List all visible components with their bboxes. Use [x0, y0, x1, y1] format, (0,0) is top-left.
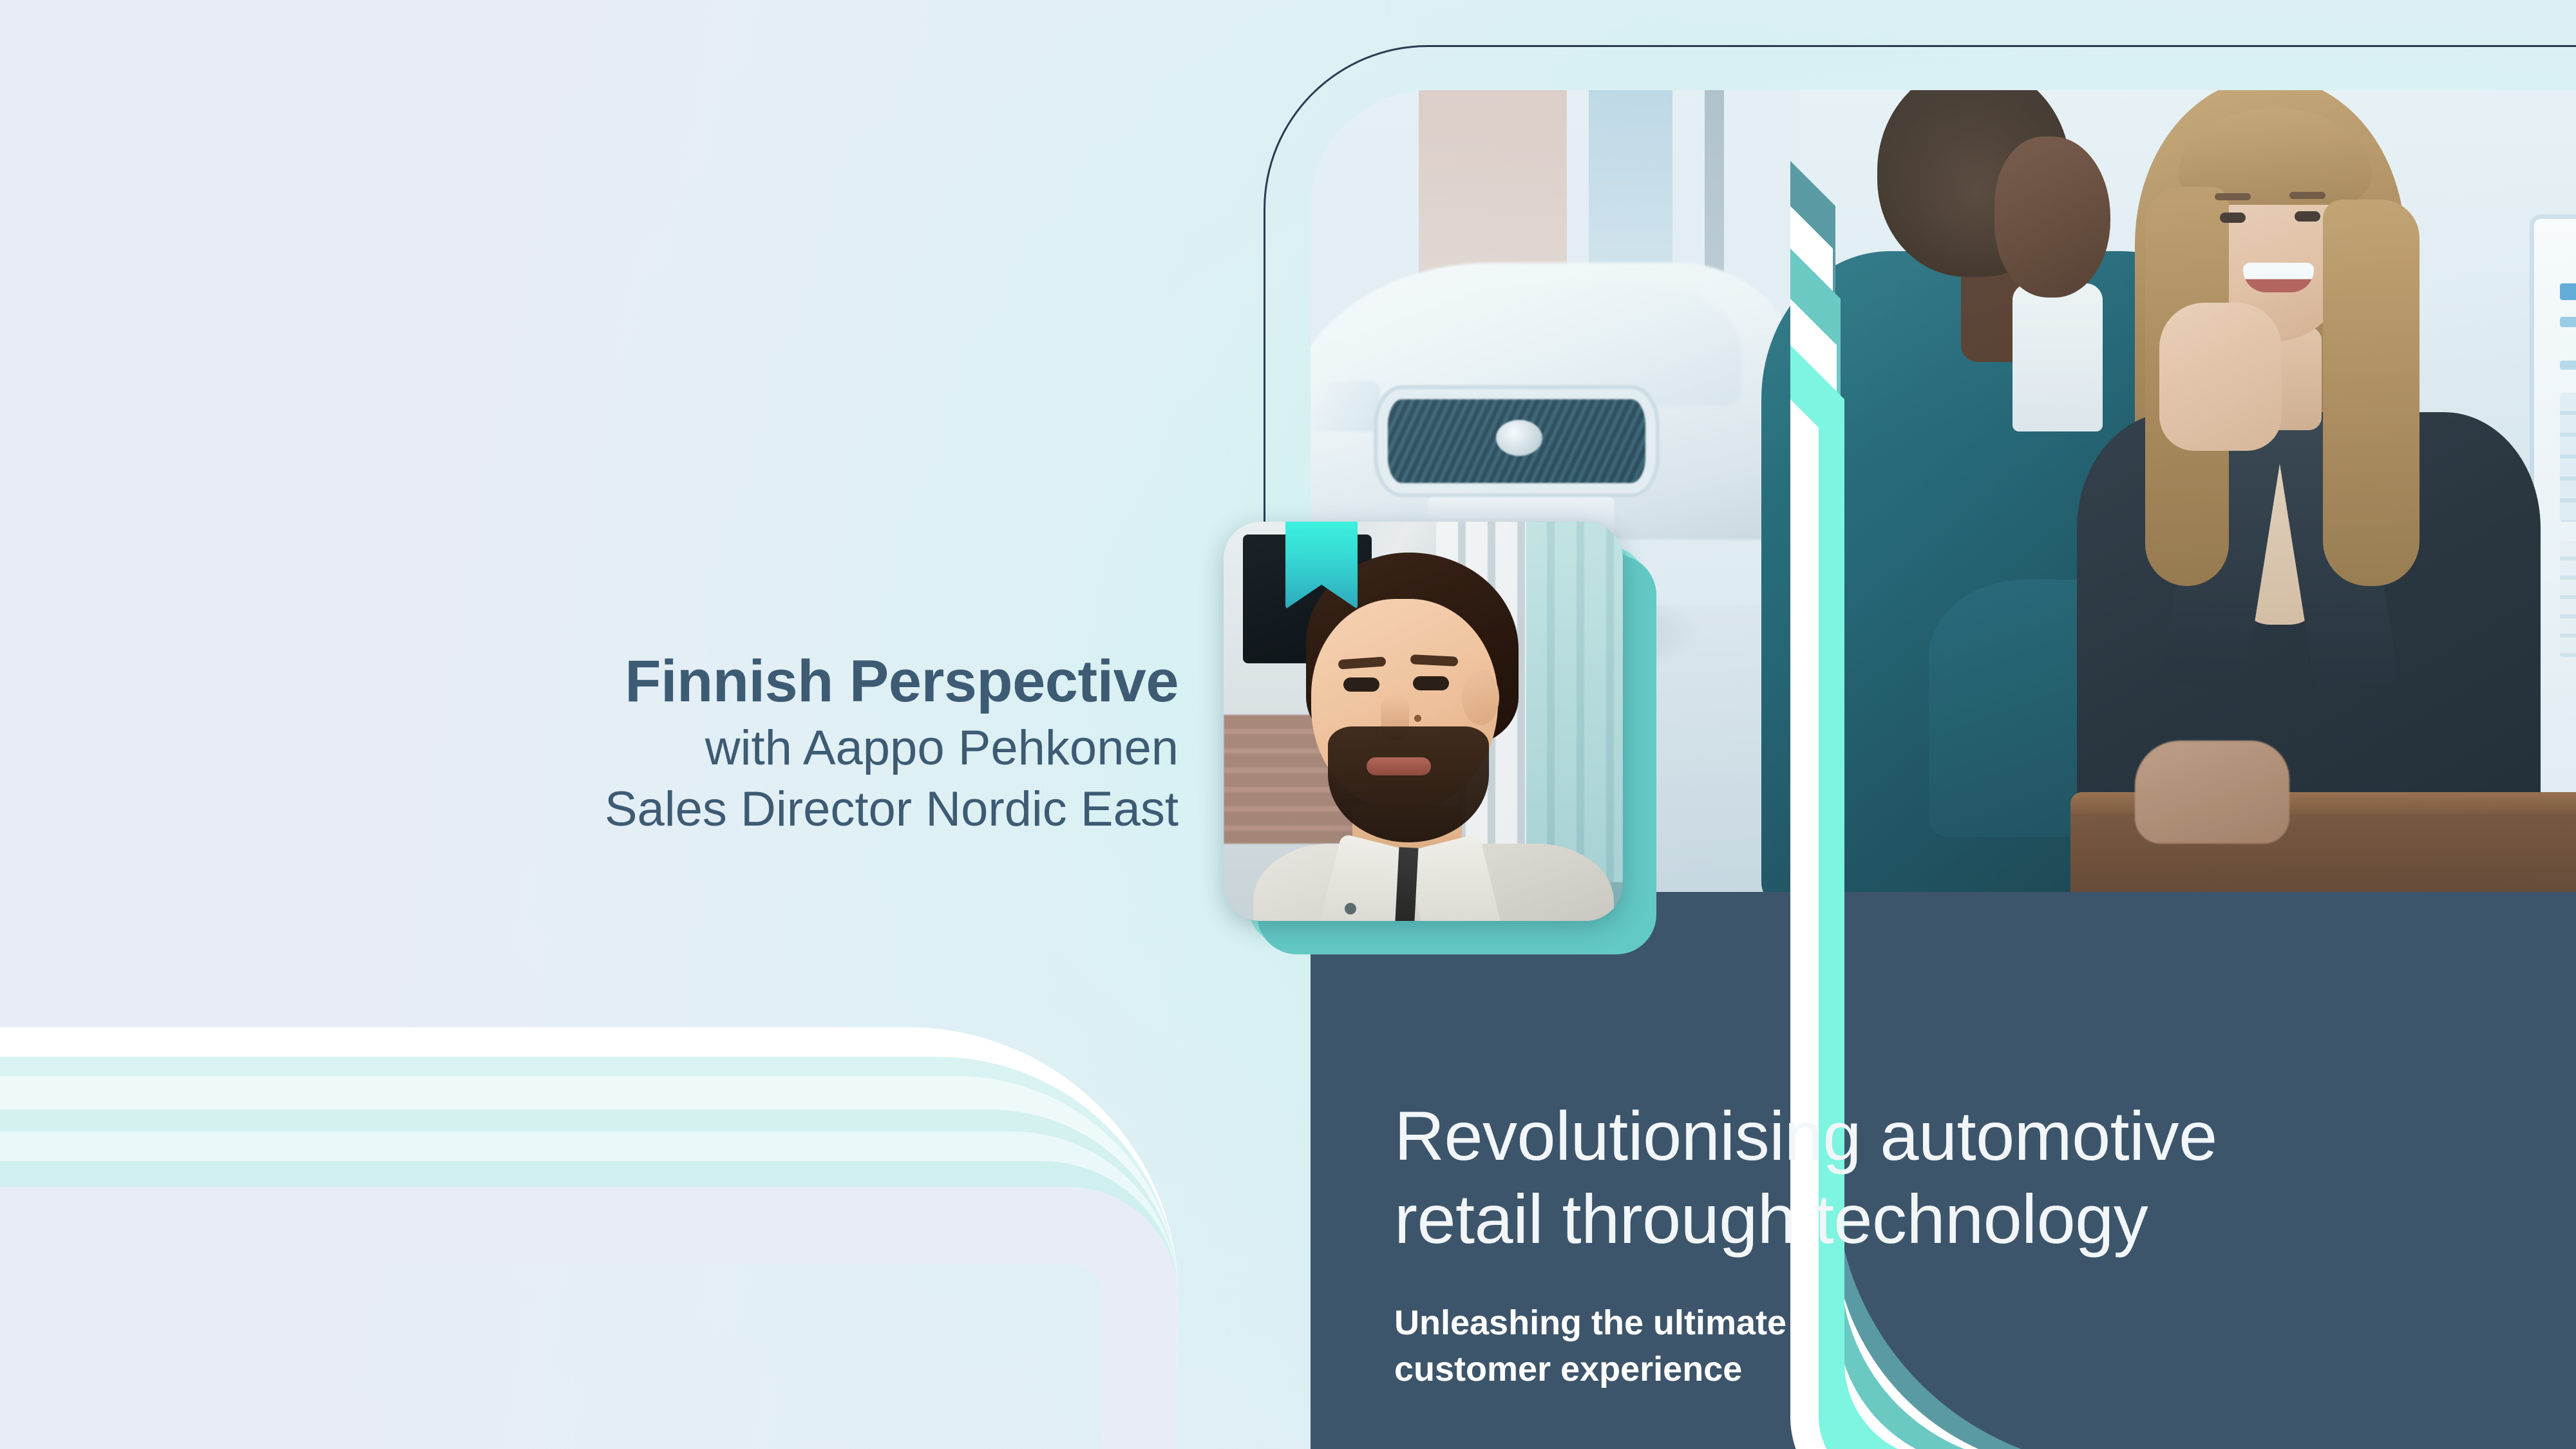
headline-block: Revolutionising automotive retail throug…: [1394, 1095, 2425, 1393]
headline-subtitle: Unleashing the ultimate customer experie…: [1394, 1300, 2425, 1393]
speaker-role-line: Sales Director Nordic East: [322, 779, 1179, 840]
headline-line-2: retail through technology: [1394, 1180, 2148, 1258]
speaker-block: Finnish Perspective with Aappo Pehkonen …: [322, 650, 1179, 840]
page-title: Finnish Perspective: [322, 650, 1179, 714]
avatar: [1224, 522, 1623, 921]
headline-line-1: Revolutionising automotive: [1394, 1097, 2217, 1175]
subtitle-line-1: Unleashing the ultimate: [1394, 1303, 1786, 1342]
slide-canvas: Finnish Perspective with Aappo Pehkonen …: [0, 0, 2576, 1449]
subtitle-line-2: customer experience: [1394, 1350, 1742, 1388]
speaker-name-line: with Aappo Pehkonen: [322, 717, 1179, 779]
headline: Revolutionising automotive retail throug…: [1394, 1095, 2425, 1260]
